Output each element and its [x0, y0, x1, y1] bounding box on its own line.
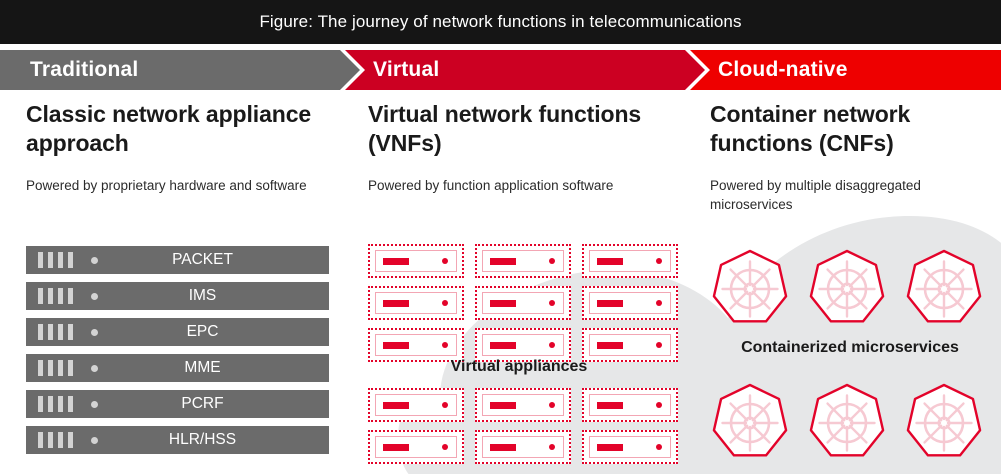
drive-slot-icon: [490, 402, 516, 409]
server-vents-icon: [38, 432, 73, 448]
virtual-appliance-inner: [589, 250, 671, 272]
drive-slot-icon: [597, 258, 623, 265]
drive-slot-icon: [490, 342, 516, 349]
virtual-appliance-box[interactable]: [582, 328, 678, 362]
status-led-icon: [549, 342, 555, 348]
page-title: Figure: The journey of network functions…: [259, 12, 741, 32]
vent-slot-icon: [38, 324, 43, 340]
vent-slot-icon: [38, 360, 43, 376]
virtual-appliance-box[interactable]: [368, 286, 464, 320]
virtual-appliance-box[interactable]: [475, 430, 571, 464]
containerized-microservices-caption: Containerized microservices: [700, 339, 1000, 357]
vent-slot-icon: [48, 396, 53, 412]
appliance-bar-label: PACKET: [98, 251, 329, 269]
virtual-appliance-grid-top: [368, 244, 678, 362]
virtual-appliance-box[interactable]: [582, 430, 678, 464]
vent-slot-icon: [58, 324, 63, 340]
virtual-appliance-inner: [589, 436, 671, 458]
appliance-bar[interactable]: PACKET: [26, 246, 329, 274]
container-icon-wrapper[interactable]: [807, 382, 887, 462]
vent-slot-icon: [58, 432, 63, 448]
column-heading-cloud-native: Container network functions (CNFs): [710, 100, 995, 159]
appliance-bar-label: HLR/HSS: [98, 431, 329, 449]
virtual-appliance-box[interactable]: [368, 430, 464, 464]
kubernetes-helm-icon[interactable]: [807, 248, 887, 328]
container-icon-wrapper[interactable]: [710, 382, 790, 462]
virtual-appliance-box[interactable]: [582, 286, 678, 320]
stage-label-traditional: Traditional: [30, 58, 138, 82]
status-led-icon: [91, 401, 98, 408]
appliance-bar-label: MME: [98, 359, 329, 377]
stage-virtual[interactable]: Virtual: [345, 50, 705, 90]
appliance-bar[interactable]: PCRF: [26, 390, 329, 418]
server-vents-icon: [38, 360, 73, 376]
virtual-appliance-inner: [482, 394, 564, 416]
virtual-appliance-box[interactable]: [475, 388, 571, 422]
virtual-appliance-inner: [375, 250, 457, 272]
status-led-icon: [442, 444, 448, 450]
status-led-icon: [656, 300, 662, 306]
server-vents-icon: [38, 324, 73, 340]
kubernetes-helm-icon[interactable]: [710, 248, 790, 328]
status-led-icon: [656, 402, 662, 408]
drive-slot-icon: [383, 402, 409, 409]
vent-slot-icon: [48, 288, 53, 304]
drive-slot-icon: [490, 300, 516, 307]
drive-slot-icon: [490, 258, 516, 265]
virtual-appliance-box[interactable]: [475, 328, 571, 362]
drive-slot-icon: [597, 342, 623, 349]
status-led-icon: [442, 342, 448, 348]
kubernetes-helm-icon[interactable]: [807, 382, 887, 462]
drive-slot-icon: [597, 402, 623, 409]
appliance-bar-label: IMS: [98, 287, 329, 305]
status-led-icon: [91, 437, 98, 444]
vent-slot-icon: [38, 288, 43, 304]
column-heading-traditional: Classic network appliance approach: [26, 100, 338, 159]
virtual-appliance-box[interactable]: [368, 244, 464, 278]
status-led-icon: [442, 300, 448, 306]
virtual-appliance-box[interactable]: [582, 388, 678, 422]
column-cloud-native: Container network functions (CNFs) Power…: [710, 100, 995, 214]
drive-slot-icon: [383, 300, 409, 307]
status-led-icon: [549, 402, 555, 408]
figure-root: Figure: The journey of network functions…: [0, 0, 1001, 474]
virtual-appliance-inner: [482, 250, 564, 272]
virtual-appliance-box[interactable]: [475, 244, 571, 278]
drive-slot-icon: [490, 444, 516, 451]
vent-slot-icon: [58, 396, 63, 412]
server-vents-icon: [38, 288, 73, 304]
figure-title-bar: Figure: The journey of network functions…: [0, 0, 1001, 44]
vent-slot-icon: [48, 360, 53, 376]
vent-slot-icon: [48, 324, 53, 340]
drive-slot-icon: [383, 258, 409, 265]
column-heading-virtual: Virtual network functions (VNFs): [368, 100, 680, 159]
vent-slot-icon: [38, 432, 43, 448]
virtual-appliance-box[interactable]: [368, 328, 464, 362]
stage-cloud-native[interactable]: Cloud-native: [690, 50, 1001, 90]
status-led-icon: [442, 258, 448, 264]
kubernetes-helm-icon[interactable]: [904, 248, 984, 328]
virtual-appliance-inner: [375, 292, 457, 314]
vent-slot-icon: [58, 252, 63, 268]
virtual-appliances-caption: Virtual appliances: [368, 358, 670, 376]
server-vents-icon: [38, 396, 73, 412]
status-led-icon: [656, 444, 662, 450]
vent-slot-icon: [68, 288, 73, 304]
vent-slot-icon: [68, 432, 73, 448]
virtual-appliance-inner: [375, 394, 457, 416]
virtual-appliance-inner: [482, 292, 564, 314]
virtual-appliance-inner: [589, 334, 671, 356]
status-led-icon: [91, 257, 98, 264]
vent-slot-icon: [58, 360, 63, 376]
status-led-icon: [549, 300, 555, 306]
vent-slot-icon: [68, 252, 73, 268]
vent-slot-icon: [48, 432, 53, 448]
container-icon-wrapper[interactable]: [807, 248, 887, 328]
status-led-icon: [442, 402, 448, 408]
stage-band: Traditional Virtual Cloud-native: [0, 50, 1001, 90]
column-traditional: Classic network appliance approach Power…: [26, 100, 338, 196]
container-grid-bottom: [710, 382, 984, 462]
virtual-appliance-inner: [375, 334, 457, 356]
virtual-appliance-inner: [589, 394, 671, 416]
status-led-icon: [91, 365, 98, 372]
vent-slot-icon: [68, 396, 73, 412]
vent-slot-icon: [68, 324, 73, 340]
drive-slot-icon: [597, 300, 623, 307]
virtual-appliance-grid-bottom: [368, 388, 678, 464]
appliance-bar-label: PCRF: [98, 395, 329, 413]
appliance-list: PACKETIMSEPCMMEPCRFHLR/HSS: [26, 246, 329, 462]
virtual-appliance-inner: [482, 334, 564, 356]
stage-traditional[interactable]: Traditional: [0, 50, 360, 90]
vent-slot-icon: [38, 396, 43, 412]
kubernetes-helm-icon[interactable]: [710, 382, 790, 462]
status-led-icon: [549, 444, 555, 450]
drive-slot-icon: [597, 444, 623, 451]
drive-slot-icon: [383, 444, 409, 451]
status-led-icon: [656, 258, 662, 264]
appliance-bar[interactable]: MME: [26, 354, 329, 382]
appliance-bar[interactable]: EPC: [26, 318, 329, 346]
status-led-icon: [549, 258, 555, 264]
appliance-bar-label: EPC: [98, 323, 329, 341]
status-led-icon: [656, 342, 662, 348]
column-virtual: Virtual network functions (VNFs) Powered…: [368, 100, 680, 196]
appliance-bar[interactable]: HLR/HSS: [26, 426, 329, 454]
virtual-appliance-box[interactable]: [582, 244, 678, 278]
stage-label-cloud-native: Cloud-native: [718, 58, 848, 82]
stage-label-virtual: Virtual: [373, 58, 439, 82]
vent-slot-icon: [68, 360, 73, 376]
container-icon-wrapper[interactable]: [710, 248, 790, 328]
container-grid-top: [710, 248, 984, 328]
vent-slot-icon: [58, 288, 63, 304]
drive-slot-icon: [383, 342, 409, 349]
status-led-icon: [91, 293, 98, 300]
vent-slot-icon: [38, 252, 43, 268]
server-vents-icon: [38, 252, 73, 268]
virtual-appliance-inner: [375, 436, 457, 458]
container-icon-wrapper[interactable]: [904, 248, 984, 328]
column-subtext-virtual: Powered by function application software: [368, 177, 680, 196]
appliance-bar[interactable]: IMS: [26, 282, 329, 310]
virtual-appliance-inner: [482, 436, 564, 458]
container-icon-wrapper[interactable]: [904, 382, 984, 462]
status-led-icon: [91, 329, 98, 336]
column-subtext-traditional: Powered by proprietary hardware and soft…: [26, 177, 338, 196]
column-subtext-cloud-native: Powered by multiple disaggregated micros…: [710, 177, 995, 214]
virtual-appliance-box[interactable]: [475, 286, 571, 320]
virtual-appliance-inner: [589, 292, 671, 314]
kubernetes-helm-icon[interactable]: [904, 382, 984, 462]
virtual-appliance-box[interactable]: [368, 388, 464, 422]
vent-slot-icon: [48, 252, 53, 268]
